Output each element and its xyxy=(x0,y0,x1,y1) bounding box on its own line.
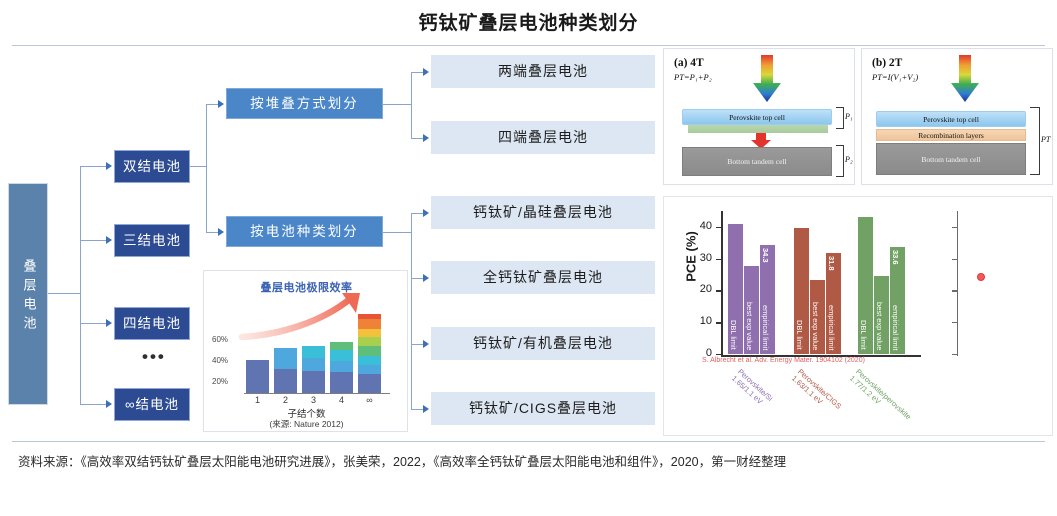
pce-secondary-tick-mark xyxy=(952,259,957,260)
pce-y-tick-label: 20 xyxy=(690,283,712,295)
connector-to-node-3 xyxy=(80,323,108,324)
schematic-4t-equation: PT=P₁+P₂ xyxy=(674,72,712,82)
pce-bar-series-label: DBL limit xyxy=(859,320,868,350)
pce-xtick-label-1: Perovskite/CIGS1.63/1.1 eV xyxy=(790,367,843,411)
brace-label-p2-4t: P₂ xyxy=(845,155,853,164)
connector-dual-out xyxy=(190,166,207,167)
flow-node-dual-junction[interactable]: 双结电池 xyxy=(114,150,190,183)
inset-bar-segment xyxy=(330,361,353,372)
pce-y-tick-label: 40 xyxy=(690,220,712,232)
pce-xtick-perovskite-silicon: Perovskite/Si1.65/1.1 eV xyxy=(729,367,774,410)
connector-dual-vertical xyxy=(206,104,207,232)
inset-bar-segment xyxy=(302,371,325,393)
flow-node-all-perovskite[interactable]: 全钙钛矿叠层电池 xyxy=(431,261,655,294)
pce-y-tick-mark xyxy=(716,322,721,323)
connector-to-node-4 xyxy=(80,404,108,405)
flow-node-four-terminal[interactable]: 四端叠层电池 xyxy=(431,121,655,154)
pce-bar: empirical limit34.3 xyxy=(760,245,775,354)
pce-bar: empirical limit33.6 xyxy=(890,247,905,354)
connector-trunk-vertical xyxy=(80,166,81,404)
pce-bar: best exp value xyxy=(810,280,825,354)
inset-bar-segment xyxy=(274,348,297,369)
pce-bar-series-label: DBL limit xyxy=(795,320,804,350)
pce-bar: best exp value xyxy=(744,266,759,354)
arrow-to-node-3 xyxy=(106,319,112,327)
flow-node-two-terminal[interactable]: 两端叠层电池 xyxy=(431,55,655,88)
pce-secondary-tick-mark xyxy=(952,322,957,323)
pce-bar: DBL limit xyxy=(858,217,873,354)
inset-plot-area xyxy=(246,315,386,393)
layer-perovskite-top-cell-4t: Perovskite top cell xyxy=(682,109,832,125)
arrow-to-psi xyxy=(423,209,429,217)
schematic-2t-equation: PT=I(V₁+V₂) xyxy=(872,72,918,82)
schematic-4t-label: (a) 4T xyxy=(674,57,704,69)
inset-bar xyxy=(358,314,381,393)
inset-bar-segment xyxy=(358,346,381,355)
brace-pt-2t xyxy=(1030,107,1040,175)
pce-secondary-tick-mark xyxy=(952,290,957,291)
pce-y-tick-label: 10 xyxy=(690,315,712,327)
connector-celltype-out xyxy=(383,232,412,233)
inset-bar-segment xyxy=(274,369,297,393)
arrow-to-organic xyxy=(423,340,429,348)
inset-bar-segment xyxy=(330,372,353,393)
brace-p1-4t xyxy=(836,107,844,129)
connector-root-trunk xyxy=(48,293,80,294)
inset-bar xyxy=(246,360,269,393)
layer-perovskite-top-cell-2t: Perovskite top cell xyxy=(876,111,1026,127)
incident-light-arrow-icon xyxy=(950,55,980,103)
inset-source-note: (来源: Nature 2012) xyxy=(204,418,409,430)
pce-xtick-perovskite-perovskite: Perovskite/perovskite1.77/1.2 eV xyxy=(847,367,913,429)
flow-node-infinite-junction[interactable]: ∞结电池 xyxy=(114,388,190,421)
inset-xtick-1: 1 xyxy=(246,395,269,405)
layer-bottom-tandem-cell-4t: Bottom tandem cell xyxy=(682,147,832,176)
pce-marker-dot xyxy=(977,273,985,281)
inset-bar-segment xyxy=(358,365,381,374)
pce-bar: best exp value xyxy=(874,276,889,354)
pce-bar-series-label: empirical limit xyxy=(827,305,836,350)
source-footer: 资料来源：《高效率双结钙钛矿叠层太阳能电池研究进展》，张美荣，2022，《高效率… xyxy=(18,452,1038,473)
pce-xtick-perovskite-cigs: Perovskite/CIGS1.63/1.1 eV xyxy=(789,367,843,418)
arrow-to-terminal-2 xyxy=(423,68,429,76)
inset-xtick-4: 4 xyxy=(330,395,353,405)
arrow-to-allperovskite xyxy=(423,274,429,282)
arrow-to-node-2 xyxy=(106,236,112,244)
inset-bar-segment xyxy=(358,319,381,328)
pce-y-tick-mark xyxy=(716,354,721,355)
pce-secondary-axis xyxy=(957,211,958,356)
arrow-to-stack-mode xyxy=(218,100,224,108)
inset-ytick-20: 20% xyxy=(212,377,228,386)
inset-xtick-inf: ∞ xyxy=(358,395,381,405)
flow-node-perovskite-silicon[interactable]: 钙钛矿/晶硅叠层电池 xyxy=(431,196,655,229)
arrow-to-cell-type xyxy=(218,228,224,236)
pce-plot-area: DBL limitbest exp valueempirical limit34… xyxy=(722,211,917,354)
arrow-to-node-4 xyxy=(106,400,112,408)
flow-node-perovskite-cigs[interactable]: 钙钛矿/CIGS叠层电池 xyxy=(431,392,655,425)
inset-bar xyxy=(330,342,353,393)
pce-bar-chart: PCE (%) 010203040 DBL limitbest exp valu… xyxy=(663,196,1053,436)
pce-bar-series-label: best exp value xyxy=(745,302,754,350)
schematic-2t-label: (b) 2T xyxy=(872,57,902,69)
incident-light-arrow-icon xyxy=(752,55,782,103)
layer-recombination-2t: Recombination layers xyxy=(876,129,1026,141)
divider-top xyxy=(12,45,1045,46)
inset-bar-segment xyxy=(358,337,381,346)
inset-bar-segment xyxy=(358,329,381,337)
connector-stack-out xyxy=(383,104,412,105)
pce-bar: DBL limit xyxy=(728,224,743,354)
pce-y-tick-mark xyxy=(716,290,721,291)
pce-secondary-tick-mark xyxy=(952,354,957,355)
arrow-to-node-1 xyxy=(106,162,112,170)
layer-bottom-tandem-cell-2t: Bottom tandem cell xyxy=(876,143,1026,175)
pce-y-tick-mark xyxy=(716,259,721,260)
inset-ytick-60: 60% xyxy=(212,335,228,344)
flow-node-by-stacking-mode[interactable]: 按堆叠方式划分 xyxy=(226,88,383,119)
flow-node-triple-junction[interactable]: 三结电池 xyxy=(114,224,190,257)
inset-xtick-3: 3 xyxy=(302,395,325,405)
pce-xtick-label-2: Perovskite/perovskite1.77/1.2 eV xyxy=(848,367,913,421)
pce-y-tick-mark xyxy=(716,227,721,228)
pce-bar-series-label: empirical limit xyxy=(891,305,900,350)
pce-y-tick-label: 30 xyxy=(690,252,712,264)
pce-bar: empirical limit31.8 xyxy=(826,253,841,354)
inset-limit-efficiency-chart: 叠层电池极限效率 60% 40% 20% 1 2 3 4 ∞ 子结个数 (来源:… xyxy=(203,270,408,432)
pce-bar-series-label: best exp value xyxy=(875,302,884,350)
inset-bar xyxy=(274,348,297,393)
inset-bar-segment xyxy=(330,342,353,350)
flow-ellipsis: ••• xyxy=(142,347,166,367)
pce-bar-value-label: 33.6 xyxy=(891,250,900,265)
flow-node-perovskite-organic[interactable]: 钙钛矿/有机叠层电池 xyxy=(431,327,655,360)
connector-celltype-vertical xyxy=(411,213,412,409)
flow-node-by-cell-type[interactable]: 按电池种类划分 xyxy=(226,216,383,247)
pce-bar-value-label: 31.8 xyxy=(827,256,836,271)
schematic-4t: (a) 4T PT=P₁+P₂ Perovskite top cell Bott… xyxy=(663,48,855,185)
divider-bottom xyxy=(12,441,1045,442)
pce-bar: DBL limit xyxy=(794,228,809,354)
connector-to-node-2 xyxy=(80,240,108,241)
pce-bar-series-label: DBL limit xyxy=(729,320,738,350)
flow-node-root[interactable]: 叠层电池 xyxy=(8,183,48,405)
inset-bar-segment xyxy=(302,358,325,372)
inset-xtick-2: 2 xyxy=(274,395,297,405)
inset-bar-segment xyxy=(330,350,353,360)
schematic-2t: (b) 2T PT=I(V₁+V₂) Perovskite top cell R… xyxy=(861,48,1053,185)
brace-label-pt-2t: PT xyxy=(1041,135,1050,144)
inset-bar-segment xyxy=(302,346,325,357)
slide-canvas: 钙钛矿叠层电池种类划分 叠层电池 双结电池 三结电池 四结电池 ••• ∞结电池… xyxy=(0,0,1057,516)
pce-bar-value-label: 34.3 xyxy=(761,248,770,263)
pce-secondary-tick-mark xyxy=(952,227,957,228)
pce-bar-series-label: empirical limit xyxy=(761,305,770,350)
pce-bar-series-label: best exp value xyxy=(811,302,820,350)
inset-bar-segment xyxy=(358,374,381,393)
inset-x-axis xyxy=(244,393,390,394)
brace-p2-4t xyxy=(836,145,844,177)
connector-to-node-1 xyxy=(80,166,108,167)
brace-label-p1-4t: P₁ xyxy=(845,112,853,121)
arrow-to-cigs xyxy=(423,405,429,413)
layer-interface-4t xyxy=(688,125,828,133)
page-title: 钙钛矿叠层电池种类划分 xyxy=(0,8,1057,35)
flow-node-quad-junction[interactable]: 四结电池 xyxy=(114,307,190,340)
pce-citation: S. Albrecht et al. Adv. Energy Mater. 19… xyxy=(702,357,865,364)
inset-ytick-40: 40% xyxy=(212,356,228,365)
arrow-to-terminal-4 xyxy=(423,134,429,142)
inset-bar xyxy=(302,346,325,393)
inset-bar-segment xyxy=(246,360,269,393)
inset-bar-segment xyxy=(358,356,381,365)
pce-xtick-label-0: Perovskite/Si1.65/1.1 eV xyxy=(730,367,775,406)
connector-stack-vertical xyxy=(411,72,412,138)
